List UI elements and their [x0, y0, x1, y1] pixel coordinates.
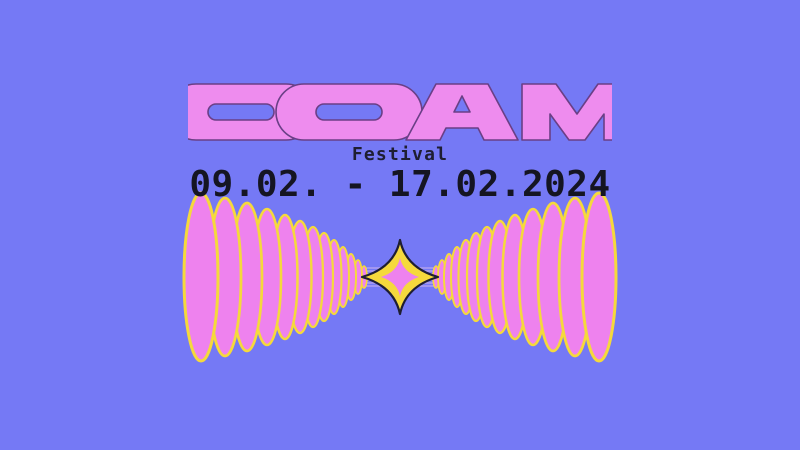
- cone-ring: [253, 209, 281, 345]
- cone-ring: [209, 198, 241, 356]
- ring-cone-right: [433, 193, 616, 361]
- ooam-wordmark: [188, 74, 612, 150]
- cone-ring: [519, 209, 547, 345]
- cone-ring: [361, 266, 367, 288]
- cone-ring: [459, 240, 474, 314]
- letter-m: [522, 84, 612, 140]
- cone-ring: [433, 266, 439, 288]
- cone-ring: [582, 193, 616, 361]
- cone-ring: [303, 227, 323, 327]
- page-title: [0, 74, 800, 150]
- cone-ring: [346, 254, 356, 300]
- cone-ring: [327, 240, 342, 314]
- beam-lines-left: [350, 268, 392, 286]
- cone-ring: [467, 233, 485, 321]
- letter-o: [276, 84, 422, 140]
- beam-lines-right: [408, 268, 450, 286]
- letter-a: [406, 84, 518, 140]
- ring-cone-left: [184, 193, 367, 361]
- festival-poster: Festival 09.02. - 17.02.2024: [0, 0, 800, 450]
- cone-ring: [489, 221, 512, 333]
- cone-ring: [184, 193, 218, 361]
- cone-ring: [354, 260, 362, 294]
- funnel-sparkle-graphic: [0, 0, 800, 450]
- poster-subtitle: Festival: [0, 145, 800, 165]
- cone-ring: [444, 254, 454, 300]
- cone-ring: [559, 198, 591, 356]
- cone-ring: [451, 247, 463, 307]
- cone-ring: [438, 260, 446, 294]
- cone-ring: [232, 203, 262, 351]
- sparkle-star-icon: [362, 240, 438, 314]
- poster-dates: 09.02. - 17.02.2024: [0, 166, 800, 204]
- cone-ring: [273, 215, 298, 339]
- cone-ring: [477, 227, 497, 327]
- cone-ring: [503, 215, 528, 339]
- cone-ring: [289, 221, 312, 333]
- cone-ring: [315, 233, 333, 321]
- cone-ring: [337, 247, 349, 307]
- cone-ring: [538, 203, 568, 351]
